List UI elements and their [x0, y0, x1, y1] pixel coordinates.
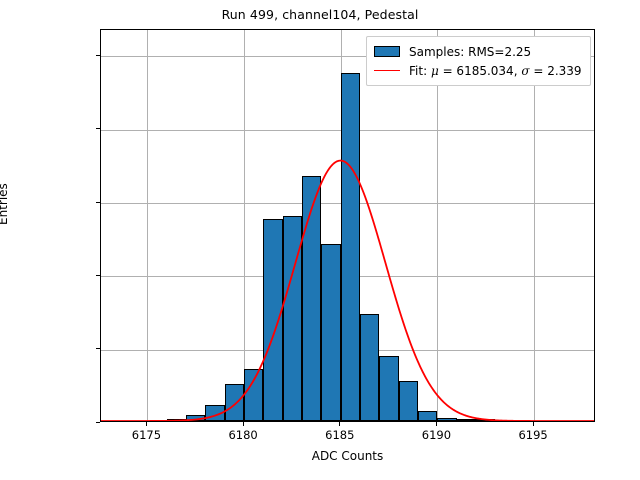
legend: Samples: RMS=2.25 Fit: μ = 6185.034, σ =… [366, 36, 591, 86]
x-tick-mark [339, 422, 340, 426]
mu-value: = 6185.034, [439, 64, 522, 78]
mu-symbol: μ [431, 64, 439, 78]
x-tick-mark [436, 422, 437, 426]
histogram-bar [341, 73, 360, 421]
x-tick-label: 6185 [325, 428, 354, 442]
legend-line-icon [374, 70, 400, 71]
histogram-bar [321, 244, 340, 421]
sigma-value: = 2.339 [530, 64, 582, 78]
legend-entry-samples: Samples: RMS=2.25 [374, 42, 582, 61]
x-tick-label: 6195 [518, 428, 547, 442]
histogram-bar [167, 419, 186, 421]
legend-label-samples: Samples: RMS=2.25 [409, 45, 531, 59]
gridline-vertical [437, 30, 438, 421]
plot-area [100, 29, 595, 422]
histogram-bar [418, 411, 437, 421]
histogram-bar [360, 314, 379, 421]
x-tick-label: 6175 [132, 428, 161, 442]
gridline-vertical [147, 30, 148, 421]
x-tick-label: 6180 [228, 428, 257, 442]
legend-fit-prefix: Fit: [409, 64, 431, 78]
page-title: Run 499, channel104, Pedestal [0, 7, 640, 22]
legend-entry-fit: Fit: μ = 6185.034, σ = 2.339 [374, 61, 582, 80]
histogram-bar [399, 381, 418, 421]
histogram-bar [244, 369, 263, 421]
histogram-bar [186, 415, 205, 421]
histogram-bar [457, 419, 476, 421]
x-tick-mark [533, 422, 534, 426]
histogram-bar [263, 219, 282, 421]
gridline-vertical [244, 30, 245, 421]
histogram-bar [205, 405, 224, 421]
sigma-symbol: σ [521, 64, 529, 78]
histogram-bar [225, 384, 244, 421]
legend-label-fit: Fit: μ = 6185.034, σ = 2.339 [409, 64, 582, 78]
x-axis-label: ADC Counts [100, 449, 595, 463]
histogram-bar [476, 419, 495, 421]
histogram-bar [283, 216, 302, 421]
gridline-vertical [534, 30, 535, 421]
histogram-bar [379, 356, 398, 421]
histogram-bar [437, 418, 456, 421]
y-axis-label: Entries [0, 183, 10, 225]
x-tick-label: 6190 [422, 428, 451, 442]
matplotlib-figure: Run 499, channel104, Pedestal Entries AD… [0, 0, 640, 480]
histogram-bar [302, 176, 321, 421]
legend-patch-icon [374, 46, 400, 57]
x-tick-mark [146, 422, 147, 426]
x-tick-mark [243, 422, 244, 426]
